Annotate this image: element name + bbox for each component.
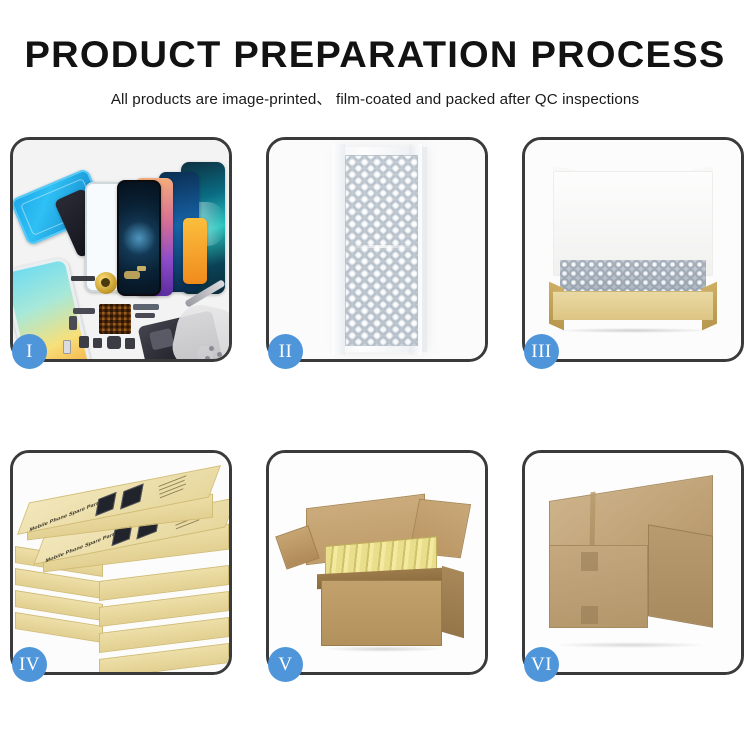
flex-cable-3 [133,304,159,310]
step-image-stacked-retail-boxes: Mobile Phone Spare Parts Mobile Phone Sp… [13,453,229,672]
sealed-carton-tab-top [581,552,598,572]
part-block-1 [79,336,89,348]
step-image-carton-filling [269,453,485,672]
step-image-inner-box-packing [525,140,741,359]
part-strip-1 [71,276,95,281]
box-stack: Mobile Phone Spare Parts Mobile Phone Sp… [13,453,229,672]
step-badge-5: V [268,647,303,682]
step-image-sealed-carton [525,453,741,672]
step-badge-1: I [12,334,47,369]
page-title: PRODUCT PREPARATION PROCESS [0,36,750,73]
part-block-4 [125,338,135,349]
carton-side-panel [442,566,464,638]
step-panel-4: Mobile Phone Spare Parts Mobile Phone Sp… [10,450,232,675]
carton-front-panel [321,580,442,646]
step-panel-2: II [266,137,488,362]
part-bracket-1 [124,271,140,279]
flex-cable-1 [73,308,95,314]
bubble-wrap-bubbles [345,155,418,346]
step-badge-2: II [268,334,303,369]
printed-box-1-screen-a [95,492,116,516]
step-panel-6: VI [522,450,744,675]
box-front-panel [553,291,713,319]
flex-cable-4 [135,313,155,318]
steps-grid: I II III [10,137,740,675]
connector-board-icon [99,304,131,334]
sealed-carton-side [648,524,713,627]
phone-screen-dark [117,180,161,296]
printed-box-1-screen-b [120,483,144,509]
step-image-bubble-wrap [269,140,485,359]
header: PRODUCT PREPARATION PROCESS All products… [0,0,750,109]
hand-icon [169,301,229,359]
sealed-carton-shadow [555,642,706,648]
step-panel-3: III [522,137,744,362]
step-panel-5: V [266,450,488,675]
step-badge-4: IV [12,647,47,682]
screw-2 [217,352,222,357]
carton-shadow [325,646,442,652]
step-image-parts-and-screens [13,140,229,359]
bubble-wrapped-items-in-box [560,260,707,293]
sealed-carton-front [549,545,648,628]
box-shadow [555,328,711,333]
part-bracket-2 [137,266,146,271]
phone-screen-amber [183,218,207,284]
product-preparation-infographic: PRODUCT PREPARATION PROCESS All products… [0,0,750,750]
speaker-module-icon [95,272,117,294]
bubble-wrap-edge-left [332,144,345,354]
screw-1 [209,346,214,351]
step-panel-1: I [10,137,232,362]
screw-3 [205,356,210,359]
page-subtitle: All products are image-printed、 film-coa… [0,87,750,109]
part-sim-tray [63,340,71,354]
part-block-3 [107,336,121,349]
sealed-carton-tab-bottom [581,606,598,624]
part-block-2 [93,338,102,348]
step-badge-6: VI [524,647,559,682]
flex-cable-2 [69,316,77,330]
step-badge-3: III [524,334,559,369]
